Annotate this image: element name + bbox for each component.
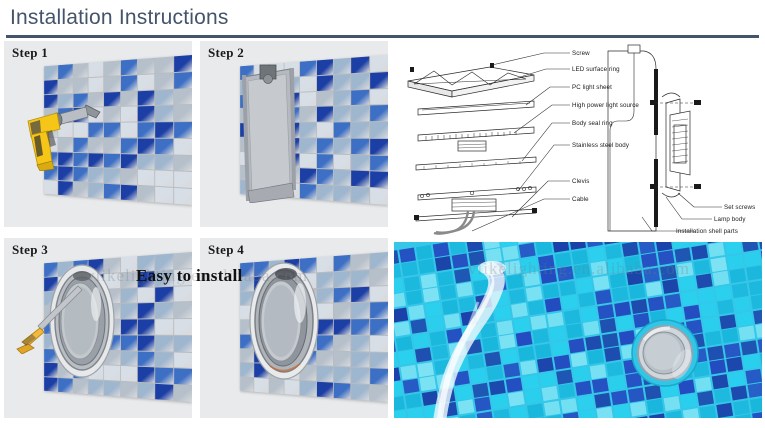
step-4-label: Step 4 xyxy=(208,242,244,258)
tile xyxy=(121,272,137,288)
tile xyxy=(317,75,333,91)
tile xyxy=(174,139,192,155)
screwdriver-icon xyxy=(8,282,86,354)
tile xyxy=(155,336,172,352)
tile xyxy=(317,185,333,201)
step-1-label: Step 1 xyxy=(12,45,48,61)
tile xyxy=(370,352,388,368)
tile xyxy=(155,139,172,155)
diagram-label-cable: Cable xyxy=(572,196,589,203)
tile xyxy=(138,287,155,303)
tile xyxy=(121,288,137,303)
tile xyxy=(155,122,172,137)
page-header: Installation Instructions xyxy=(0,0,765,38)
tile xyxy=(88,183,103,198)
tile xyxy=(155,106,172,122)
tile xyxy=(351,319,368,334)
tile xyxy=(121,169,137,185)
step-2-label: Step 2 xyxy=(208,45,244,61)
tile-wall-step-4 xyxy=(200,238,388,418)
water-jet-icon xyxy=(394,242,762,418)
tile xyxy=(351,122,368,137)
tile xyxy=(73,78,88,93)
tile xyxy=(317,138,333,153)
tile xyxy=(317,59,333,75)
tile xyxy=(334,335,351,350)
tile xyxy=(138,106,155,121)
led-pool-light-installed-icon xyxy=(242,258,324,384)
tile xyxy=(121,75,137,91)
tile xyxy=(174,105,192,121)
tile xyxy=(300,123,316,138)
tile xyxy=(174,286,192,302)
tile xyxy=(370,336,388,352)
tile xyxy=(334,90,351,106)
tile xyxy=(138,154,155,170)
tile xyxy=(351,171,368,187)
tile xyxy=(351,139,368,155)
tile xyxy=(155,384,172,401)
diagram-label-led-surface-ring: LED surface ring xyxy=(572,66,620,73)
tile xyxy=(174,55,192,72)
step-2-panel: Step 2 xyxy=(200,41,388,227)
tile xyxy=(88,77,103,92)
tile xyxy=(317,154,333,169)
tile xyxy=(121,123,137,138)
tile xyxy=(138,90,155,106)
step-3-label: Step 3 xyxy=(12,242,48,258)
tile xyxy=(138,351,155,367)
tile xyxy=(334,383,351,399)
diagram-label-stainless-steel-body: Stainless steel body xyxy=(572,142,629,149)
tile xyxy=(334,303,351,318)
tile xyxy=(370,55,388,72)
tile xyxy=(58,64,72,79)
tile xyxy=(351,303,368,319)
step-3-panel: Step 3 xyxy=(4,238,192,418)
diagram-label-body-seal-ring: Body seal ring xyxy=(572,120,613,127)
step-1-panel: Step 1 xyxy=(4,41,192,227)
tile xyxy=(155,155,172,171)
tile xyxy=(351,368,368,384)
tile xyxy=(334,367,351,383)
tile xyxy=(73,182,88,197)
tile xyxy=(300,153,316,168)
tile xyxy=(370,172,388,189)
tile xyxy=(138,138,155,153)
tile xyxy=(174,336,192,352)
tile xyxy=(317,123,333,138)
tile xyxy=(351,270,368,286)
tile xyxy=(104,61,120,77)
tile xyxy=(370,286,388,302)
tile xyxy=(300,138,316,153)
tile xyxy=(155,352,172,368)
tile xyxy=(138,319,155,334)
instructions-grid: Step 1 Step 2 xyxy=(0,38,765,422)
tile xyxy=(300,184,316,200)
tile xyxy=(351,73,368,89)
tile xyxy=(370,385,388,402)
tile xyxy=(174,155,192,171)
tile xyxy=(370,105,388,121)
tile-wall-step-2 xyxy=(200,41,388,227)
tile xyxy=(351,352,368,368)
tile xyxy=(334,58,351,74)
tile xyxy=(351,106,368,122)
tile xyxy=(121,320,137,335)
tile xyxy=(104,381,120,397)
easy-to-install-label: Easy to install xyxy=(136,266,243,286)
diagram-label-installation-shell-parts: Installation shell parts xyxy=(676,228,738,235)
tile xyxy=(351,187,368,204)
tile xyxy=(370,122,388,138)
tile xyxy=(121,138,137,153)
tile xyxy=(334,154,351,170)
tile xyxy=(58,79,72,93)
diagram-label-set-screws: Set screws xyxy=(724,204,755,211)
tile xyxy=(317,91,333,106)
tile xyxy=(174,369,192,386)
mounting-shell-icon xyxy=(238,63,298,203)
tile xyxy=(138,383,155,399)
tile xyxy=(121,335,137,350)
tile xyxy=(334,255,351,271)
tile xyxy=(155,319,172,334)
tile xyxy=(174,72,192,89)
tile xyxy=(104,184,120,200)
tile xyxy=(351,286,368,302)
tile xyxy=(155,187,172,204)
tile xyxy=(138,74,155,90)
pool-wall-photo xyxy=(394,242,762,418)
tile xyxy=(155,89,172,105)
tile xyxy=(370,188,388,205)
tile xyxy=(317,169,333,185)
tile xyxy=(370,252,388,269)
tile xyxy=(334,138,351,153)
tile xyxy=(174,188,192,205)
tile xyxy=(174,122,192,138)
tile xyxy=(138,122,155,137)
tile xyxy=(121,91,137,106)
tile xyxy=(351,56,368,73)
tile xyxy=(138,186,155,202)
tile xyxy=(155,286,172,302)
tile xyxy=(300,76,316,91)
tile xyxy=(121,304,137,319)
tile xyxy=(121,366,137,382)
tile xyxy=(370,139,388,155)
tile xyxy=(334,186,351,202)
tile-wall-step-3 xyxy=(4,238,192,418)
tile xyxy=(351,155,368,171)
tile xyxy=(155,73,172,89)
tile xyxy=(44,180,58,194)
tile xyxy=(104,76,120,91)
page-title: Installation Instructions xyxy=(0,0,765,30)
tile xyxy=(121,154,137,169)
tile xyxy=(300,107,316,122)
tile xyxy=(155,171,172,187)
tile xyxy=(317,382,333,398)
tile xyxy=(174,352,192,368)
tile xyxy=(44,65,58,79)
diagram-label-clevis: Clevis xyxy=(572,178,589,185)
tile xyxy=(300,61,316,77)
tile xyxy=(317,107,333,122)
tile xyxy=(351,89,368,105)
tile xyxy=(58,181,72,196)
diagram-label-pc-light-sheet: PC light sheet xyxy=(572,84,612,91)
tile xyxy=(370,89,388,105)
tile xyxy=(121,382,137,398)
tile xyxy=(174,302,192,318)
diagram-label-high-power-light-source: High power light source xyxy=(572,102,639,109)
tile-wall-step-1 xyxy=(4,41,192,227)
tile xyxy=(155,56,172,73)
tile xyxy=(138,58,155,74)
tile xyxy=(174,89,192,105)
tile xyxy=(88,62,103,77)
tile xyxy=(334,74,351,90)
tile xyxy=(370,72,388,89)
tile xyxy=(138,335,155,350)
tile xyxy=(155,303,172,319)
tile xyxy=(73,63,88,78)
tile xyxy=(334,122,351,137)
tile xyxy=(138,367,155,383)
tile xyxy=(44,80,58,94)
tile xyxy=(121,256,137,272)
technical-diagram-panel: Screw LED surface ring PC light sheet Hi… xyxy=(394,41,762,237)
tile xyxy=(300,169,316,184)
tile xyxy=(138,170,155,186)
tile xyxy=(351,384,368,401)
tile xyxy=(155,368,172,384)
tile xyxy=(351,253,368,270)
tile xyxy=(334,351,351,367)
tile xyxy=(370,155,388,171)
tile xyxy=(334,287,351,303)
tile xyxy=(334,170,351,186)
tile xyxy=(121,59,137,75)
tile xyxy=(300,92,316,107)
power-drill-icon xyxy=(16,99,108,171)
installed-led-light-icon xyxy=(630,318,700,388)
tile xyxy=(351,336,368,352)
tile xyxy=(121,185,137,201)
tile xyxy=(121,351,137,366)
tile xyxy=(174,319,192,335)
tile xyxy=(370,319,388,335)
pool-photo-panel xyxy=(394,242,762,418)
tile xyxy=(370,369,388,386)
diagram-label-lamp-body: Lamp body xyxy=(714,216,746,223)
tile xyxy=(370,302,388,318)
tile xyxy=(174,172,192,189)
step-4-panel: Step 4 xyxy=(200,238,388,418)
tile xyxy=(334,271,351,287)
tile xyxy=(370,269,388,286)
tile xyxy=(334,106,351,121)
tile xyxy=(88,380,103,395)
tile xyxy=(121,107,137,122)
tile xyxy=(174,385,192,402)
tile xyxy=(334,319,351,334)
tile xyxy=(138,303,155,318)
diagram-label-screw: Screw xyxy=(572,50,590,57)
